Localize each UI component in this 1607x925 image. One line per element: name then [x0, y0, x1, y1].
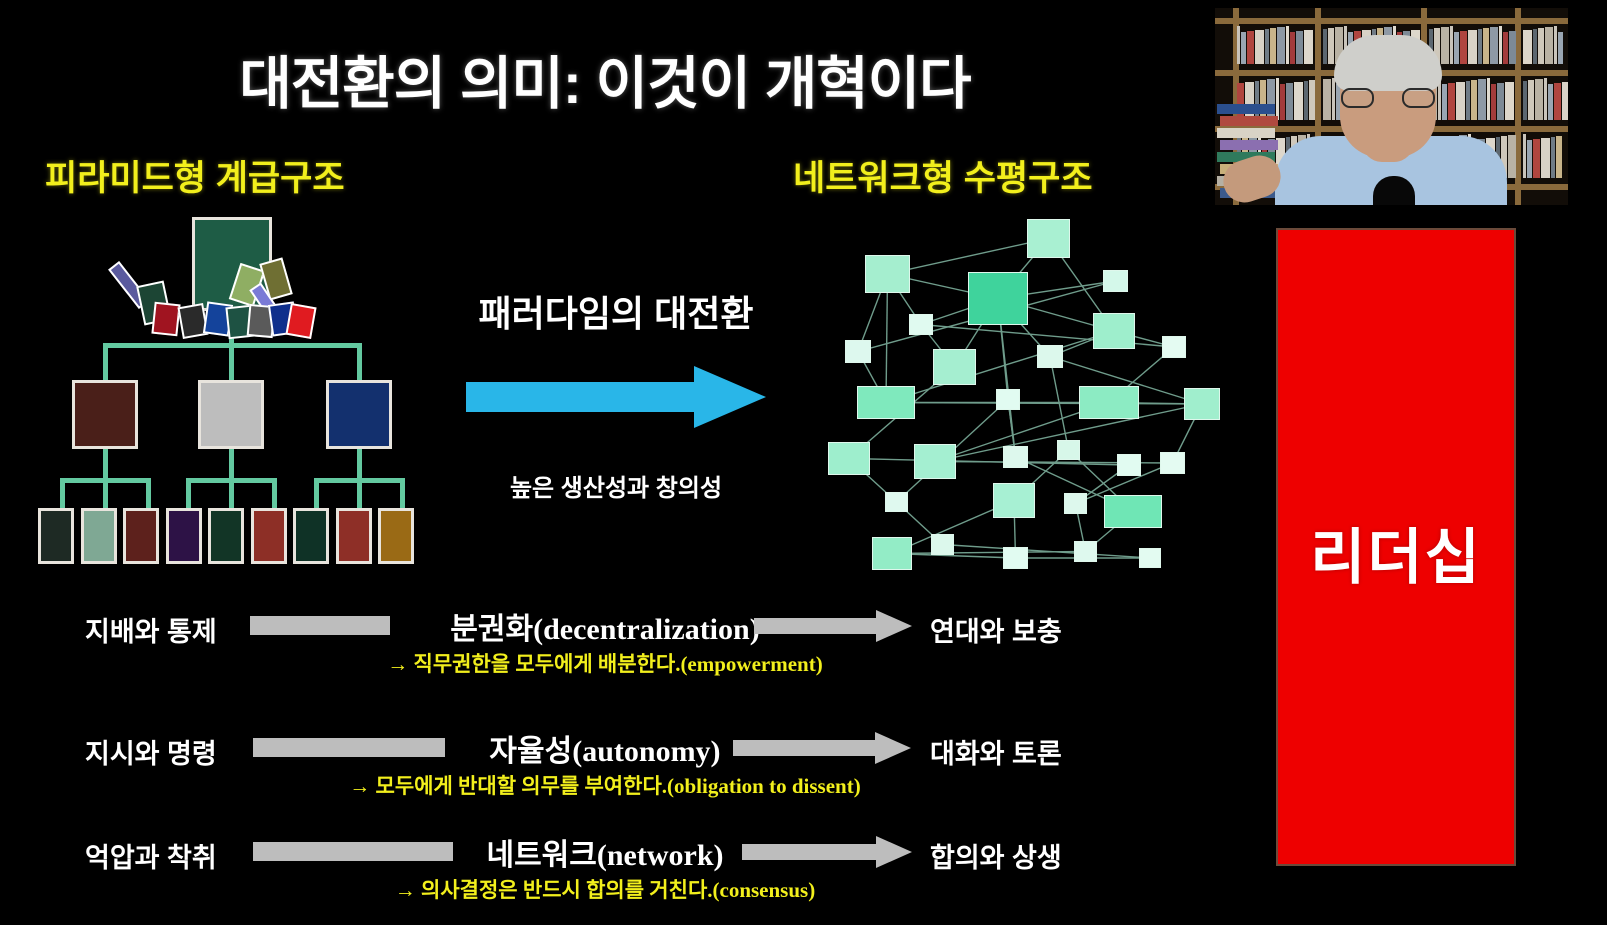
book: [1454, 32, 1459, 64]
speaker-hair: [1334, 35, 1442, 91]
pyramid-connector: [229, 343, 234, 383]
network-node: [1027, 219, 1070, 258]
book: [1296, 31, 1303, 64]
book: [1237, 26, 1240, 64]
comparison-row: 억압과 착취 네트워크(network) 합의와 상생 → 의사결정은 반드시 …: [0, 826, 1210, 914]
book: [1541, 138, 1550, 178]
row-note: → 모두에게 반대할 의무를 부여한다.(obligation to disse…: [0, 770, 1210, 800]
row-right-label: 합의와 상생: [930, 836, 1062, 875]
network-edge: [886, 274, 888, 403]
network-node: [828, 442, 870, 475]
book: [1523, 30, 1532, 64]
network-node: [857, 386, 915, 419]
book: [1468, 30, 1477, 64]
paradigm-shift-arrow-icon: [466, 366, 766, 428]
book: [1505, 82, 1514, 120]
row-note: → 직무권한을 모두에게 배분한다.(empowerment): [0, 648, 1210, 678]
book: [1466, 81, 1470, 120]
network-hub-node: [968, 272, 1028, 325]
book: [1270, 28, 1276, 64]
pyramid-connector: [146, 478, 151, 510]
book: [1538, 28, 1544, 64]
network-node: [1057, 440, 1080, 460]
pyramid-leaf-node: [251, 508, 287, 564]
network-node: [1104, 495, 1162, 528]
book: [1241, 32, 1246, 64]
book: [1277, 27, 1285, 64]
book: [1545, 27, 1553, 64]
book: [1490, 27, 1498, 64]
book: [1478, 79, 1486, 120]
book: [1533, 29, 1537, 64]
book: [1304, 81, 1308, 120]
book: [1487, 78, 1490, 120]
book: [1280, 84, 1285, 120]
book: [1456, 82, 1465, 120]
book: [1450, 26, 1453, 64]
book: [1478, 29, 1482, 64]
network-node: [1037, 345, 1063, 368]
network-node: [931, 534, 954, 555]
book: [1562, 82, 1568, 120]
pyramid-connector: [60, 478, 65, 510]
network-node: [993, 483, 1035, 518]
pyramid-connector: [229, 446, 234, 481]
book: [1554, 26, 1557, 64]
pyramid-connector: [103, 446, 108, 481]
book: [1509, 31, 1516, 64]
network-node: [914, 444, 956, 479]
network-edge: [892, 552, 1086, 554]
row-right-label: 연대와 보충: [930, 610, 1062, 649]
stacked-book: [1220, 116, 1278, 126]
leadership-label: 리더십: [1278, 509, 1514, 596]
network-node: [845, 340, 871, 363]
pyramid-leaf-node: [208, 508, 244, 564]
pyramid-leaf-node: [81, 508, 117, 564]
pyramid-scatter-shape: [285, 303, 316, 339]
network-node: [1093, 313, 1135, 349]
center-title: 패러다임의 대전환: [430, 285, 802, 337]
pyramid-connector: [357, 446, 362, 481]
pyramid-connector: [186, 478, 191, 510]
book: [1309, 80, 1315, 120]
stacked-book: [1217, 104, 1275, 114]
book: [1491, 84, 1496, 120]
network-node: [885, 492, 908, 512]
network-node: [1184, 388, 1220, 420]
book: [1523, 134, 1526, 178]
book: [1503, 32, 1508, 64]
network-node: [1064, 493, 1087, 514]
book: [1323, 29, 1327, 64]
pyramid-leaf-node: [166, 508, 202, 564]
slide-canvas: 대전환의 의미: 이것이 개혁이다 피라미드형 계급구조 네트워크형 수평구조 …: [0, 0, 1607, 925]
network-node: [865, 255, 910, 293]
book: [1304, 30, 1313, 64]
book: [1556, 136, 1562, 178]
right-column-heading: 네트워크형 수평구조: [793, 150, 1093, 201]
network-node: [872, 537, 912, 570]
book: [1533, 139, 1540, 178]
center-subtitle: 높은 생산성과 창의성: [430, 468, 802, 503]
network-node: [909, 314, 933, 335]
network-node: [996, 389, 1020, 410]
speaker-video-inset[interactable]: [1215, 8, 1568, 205]
book: [1255, 30, 1264, 64]
book: [1286, 26, 1289, 64]
book: [1247, 31, 1254, 64]
glasses-icon: [1341, 88, 1435, 108]
pyramid-leaf-node: [378, 508, 414, 564]
pyramid-mid-node: [326, 380, 392, 449]
network-node: [1079, 386, 1139, 419]
pyramid-leaf-node: [336, 508, 372, 564]
pyramid-leaf-node: [38, 508, 74, 564]
network-structure-diagram: [790, 210, 1220, 580]
network-node: [1003, 446, 1028, 468]
pyramid-mid-node: [72, 380, 138, 449]
pyramid-connector: [103, 478, 108, 510]
pyramid-leaf-node: [293, 508, 329, 564]
left-column-heading: 피라미드형 계급구조: [45, 150, 345, 201]
row-right-arrow-icon: [754, 610, 912, 642]
page-title: 대전환의 의미: 이것이 개혁이다: [0, 38, 1210, 120]
book: [1323, 79, 1331, 120]
book: [1544, 78, 1547, 120]
network-node: [1074, 541, 1097, 562]
book: [1294, 82, 1303, 120]
book: [1265, 29, 1269, 64]
pyramid-hierarchy-diagram: [20, 210, 440, 580]
network-node: [933, 349, 976, 385]
book: [1548, 84, 1553, 120]
book: [1483, 28, 1489, 64]
stacked-book: [1220, 140, 1278, 150]
pyramid-connector: [400, 478, 405, 510]
network-edge: [888, 239, 1049, 275]
network-edge: [921, 325, 1174, 348]
pyramid-leaf-node: [123, 508, 159, 564]
comparison-row: 지시와 명령 자율성(autonomy) 대화와 토론 → 모두에게 반대할 의…: [0, 722, 1210, 810]
book: [1508, 135, 1516, 178]
book: [1290, 32, 1295, 64]
book: [1448, 83, 1455, 120]
network-node: [1117, 454, 1141, 476]
book: [1332, 78, 1335, 120]
book: [1523, 81, 1527, 120]
book: [1499, 26, 1502, 64]
row-right-arrow-icon: [733, 732, 911, 764]
pyramid-scatter-shape: [151, 302, 180, 337]
pyramid-connector: [103, 343, 108, 383]
network-node: [1162, 336, 1186, 358]
pyramid-connector: [314, 478, 319, 510]
stacked-book: [1217, 128, 1275, 138]
book: [1535, 79, 1543, 120]
book: [1551, 137, 1555, 178]
book: [1328, 28, 1334, 64]
row-right-arrow-icon: [742, 836, 912, 868]
pyramid-connector: [229, 478, 234, 510]
book: [1497, 83, 1504, 120]
row-right-label: 대화와 토론: [930, 732, 1062, 771]
pyramid-connector: [272, 478, 277, 510]
book: [1471, 80, 1477, 120]
book: [1460, 31, 1467, 64]
network-node: [1139, 548, 1161, 568]
book: [1527, 140, 1532, 178]
book: [1441, 27, 1449, 64]
pyramid-mid-node: [198, 380, 264, 449]
pyramid-connector: [357, 343, 362, 383]
book: [1528, 80, 1534, 120]
comparison-row: 지배와 통제 분권화(decentralization) 연대와 보충 → 직무…: [0, 600, 1210, 688]
book: [1286, 83, 1293, 120]
network-node: [1003, 547, 1028, 569]
row-note: → 의사결정은 반드시 합의를 거친다.(consensus): [0, 874, 1210, 904]
network-node: [1103, 270, 1128, 292]
network-node: [1160, 452, 1185, 474]
book: [1558, 32, 1563, 64]
pyramid-connector: [357, 478, 362, 510]
book: [1442, 84, 1447, 120]
book: [1554, 83, 1561, 120]
leadership-panel: 리더십: [1276, 228, 1516, 866]
